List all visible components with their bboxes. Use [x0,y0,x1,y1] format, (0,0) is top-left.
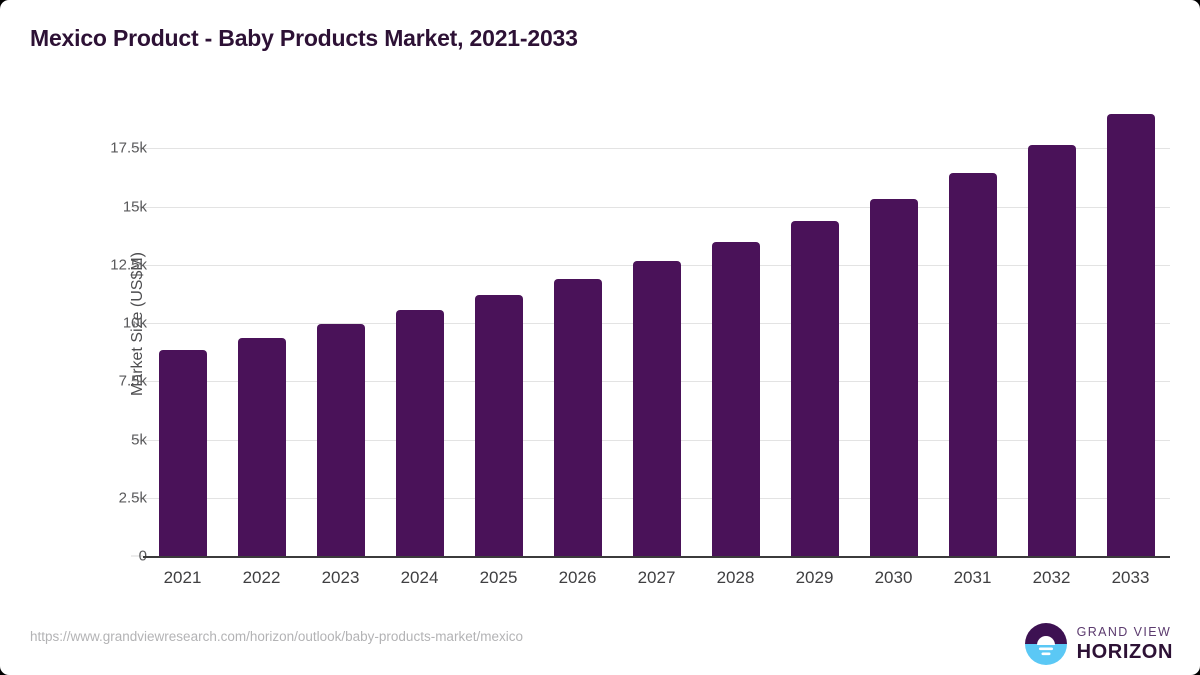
y-tick-label: 5k [77,431,147,448]
logo-text-grand-view: GRAND VIEW [1077,626,1173,639]
bar[interactable] [1028,145,1076,556]
grand-view-horizon-logo[interactable]: GRAND VIEW HORIZON [1024,620,1173,668]
x-tick-label: 2026 [538,568,618,588]
x-tick-label: 2033 [1091,568,1171,588]
y-tick-label: 2.5k [77,489,147,506]
bar[interactable] [1107,114,1155,556]
bar[interactable] [554,279,602,556]
gridline [143,148,1170,149]
bar[interactable] [633,261,681,556]
bar[interactable] [396,310,444,556]
y-tick-label: 7.5k [77,373,147,390]
x-tick-label: 2030 [854,568,934,588]
source-url[interactable]: https://www.grandviewresearch.com/horizo… [30,629,523,644]
x-tick-label: 2028 [696,568,776,588]
logo-text-horizon: HORIZON [1077,642,1173,662]
y-tick-label: 0 [77,548,147,565]
bar[interactable] [949,173,997,556]
x-tick-label: 2031 [933,568,1013,588]
bar[interactable] [712,242,760,556]
x-tick-label: 2032 [1012,568,1092,588]
x-tick-label: 2029 [775,568,855,588]
page-title: Mexico Product - Baby Products Market, 2… [30,25,578,52]
plot-area: Market Size (US$M) 02.5k5k7.5k10k12.5k15… [113,90,1170,558]
bar[interactable] [159,350,207,556]
x-tick-label: 2022 [222,568,302,588]
x-tick-label: 2023 [301,568,381,588]
horizon-logo-icon [1024,622,1068,666]
bar[interactable] [238,338,286,556]
y-tick-label: 17.5k [77,140,147,157]
x-axis-line [143,556,1170,558]
bar[interactable] [791,221,839,556]
x-tick-label: 2027 [617,568,697,588]
y-tick-label: 10k [77,315,147,332]
bar[interactable] [475,295,523,556]
chart-card: Mexico Product - Baby Products Market, 2… [0,0,1200,675]
y-tick-label: 12.5k [77,256,147,273]
x-tick-label: 2021 [143,568,223,588]
x-tick-label: 2024 [380,568,460,588]
x-tick-label: 2025 [459,568,539,588]
bar[interactable] [870,199,918,556]
gridline [143,207,1170,208]
y-tick-label: 15k [77,198,147,215]
bar[interactable] [317,324,365,556]
logo-text: GRAND VIEW HORIZON [1077,626,1173,663]
